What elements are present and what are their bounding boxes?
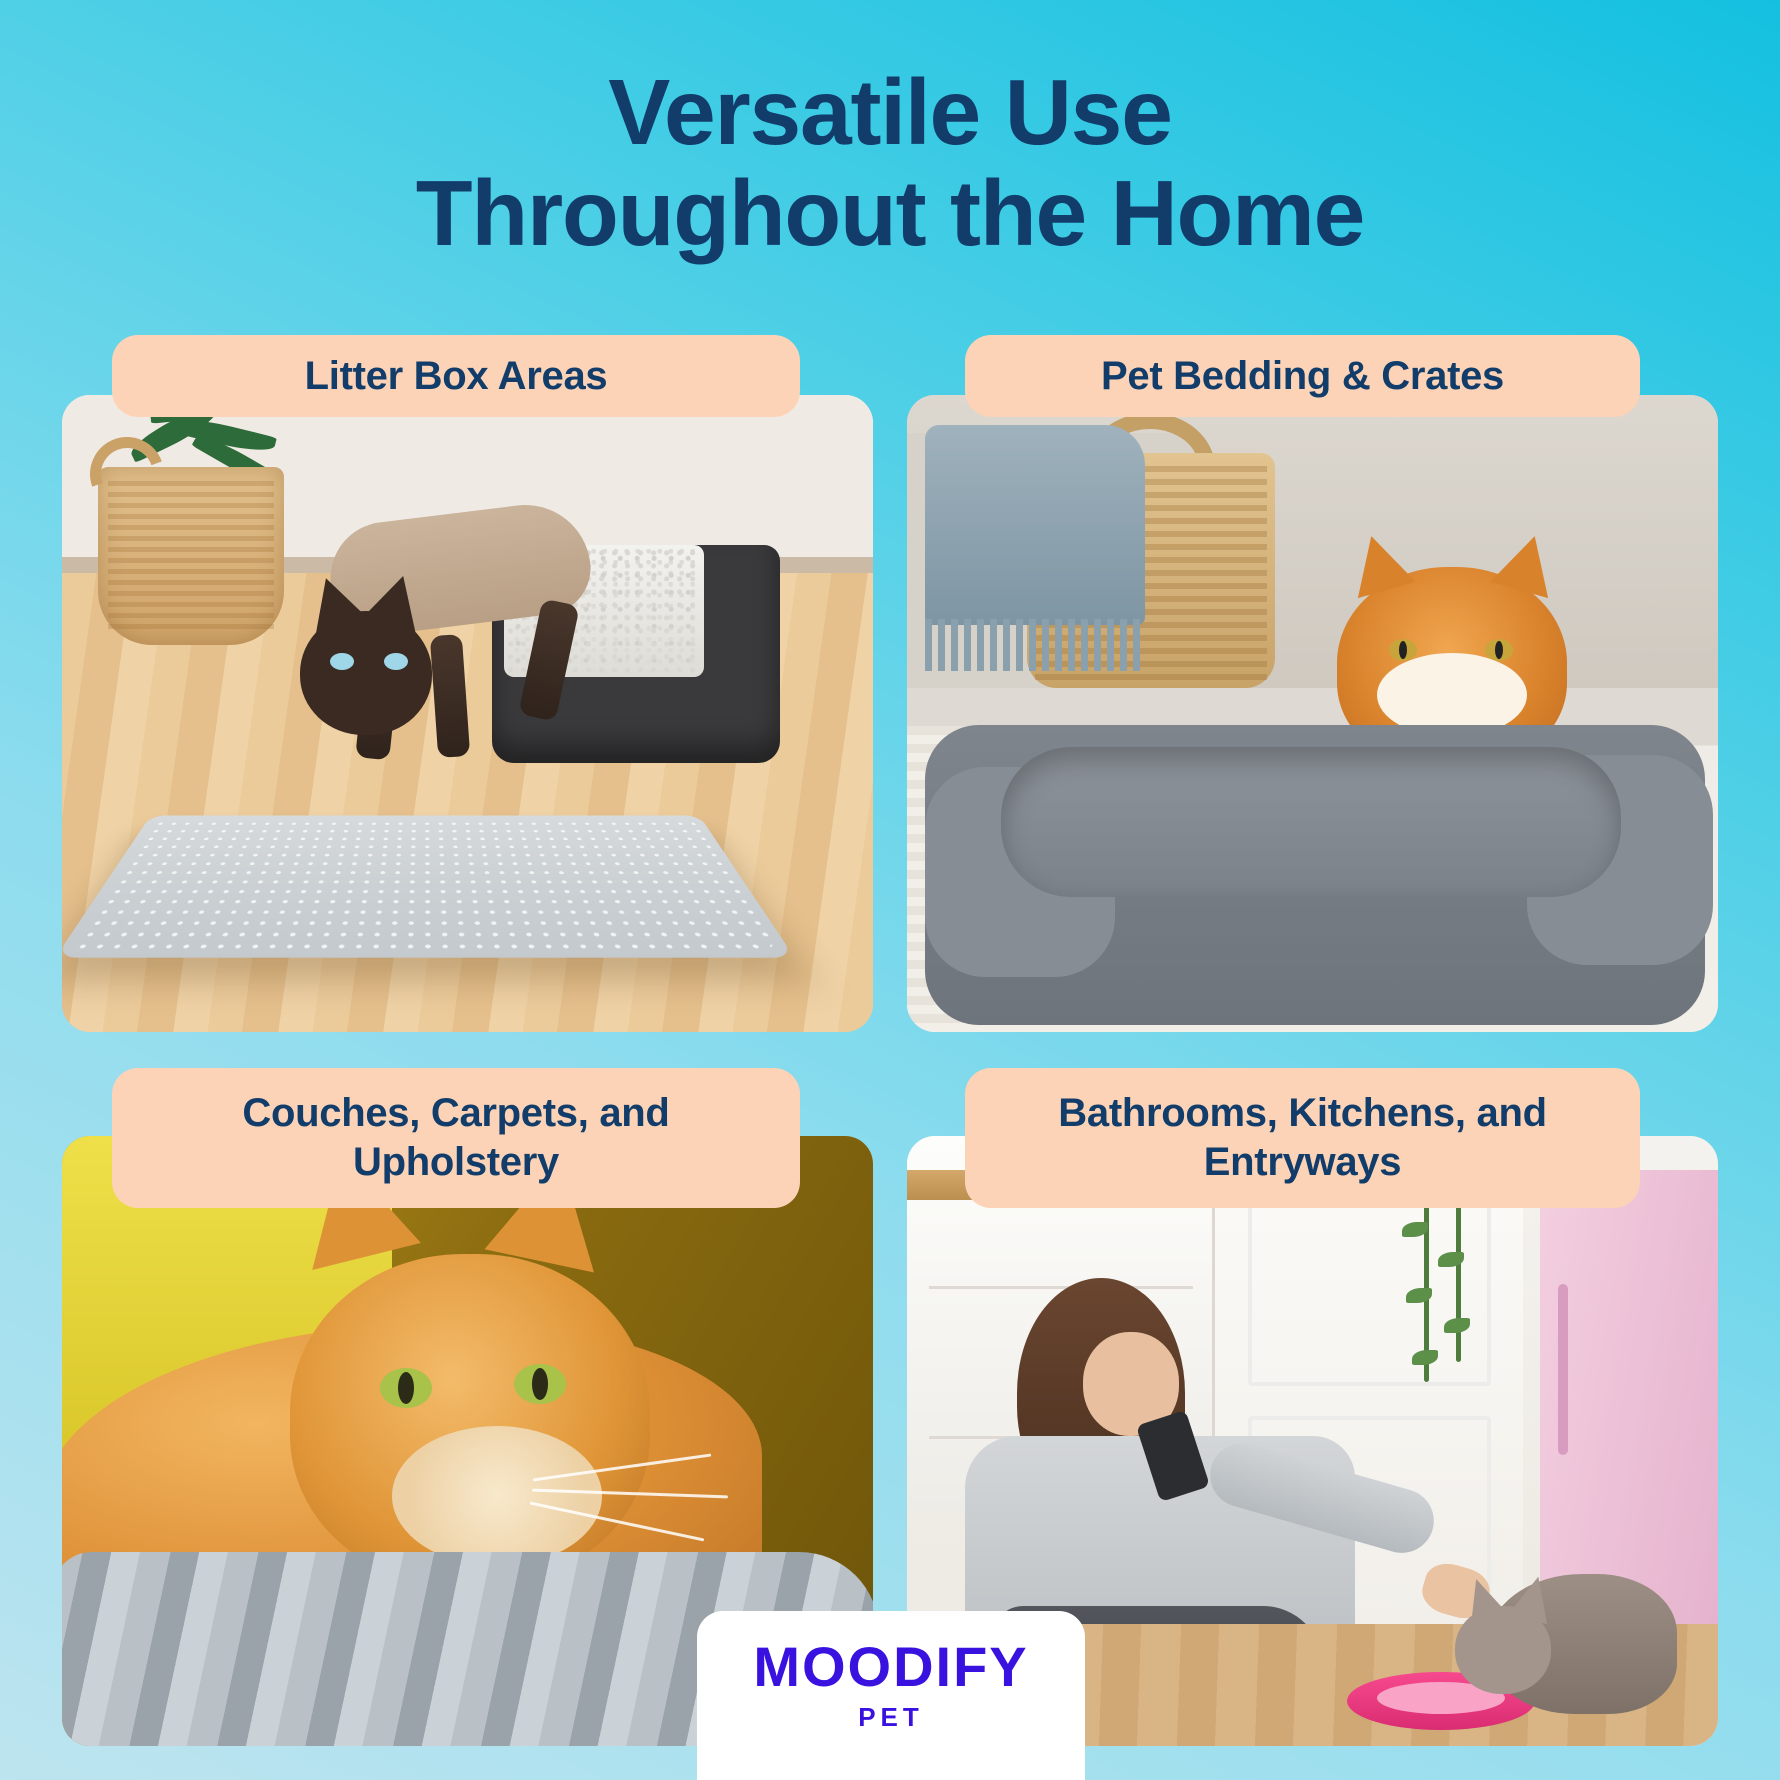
panel-label-line-2: Upholstery [353, 1140, 559, 1184]
page-title-line-2: Throughout the Home [0, 163, 1780, 264]
page-title: Versatile Use Throughout the Home [0, 62, 1780, 265]
cabinet-seam [929, 1286, 1193, 1289]
panel-label-text: Litter Box Areas [305, 352, 608, 401]
brand-subtitle: PET [858, 1704, 924, 1730]
panel-label-line-1: Couches, Carpets, and [242, 1091, 669, 1135]
panel-label-text: Couches, Carpets, and Upholstery [242, 1089, 669, 1187]
cat-muzzle [392, 1426, 602, 1566]
cat-eye [384, 653, 408, 670]
brand-wordmark: MOODIFY [753, 1639, 1028, 1695]
panel-label-line-1: Bathrooms, Kitchens, and [1058, 1091, 1546, 1135]
cat-eye [514, 1364, 566, 1404]
photo-litter-box-areas [62, 395, 873, 1032]
cat-eye [1485, 639, 1513, 661]
panel-litter-box-areas [62, 395, 873, 1032]
brand-logo: MOODIFY PET [697, 1611, 1085, 1780]
pet-bed-cushion [1001, 747, 1621, 897]
litter-mat [62, 815, 795, 957]
panel-label-text: Pet Bedding & Crates [1101, 352, 1504, 401]
photo-pet-bedding-and-crates [907, 395, 1718, 1032]
throw-blanket [925, 425, 1145, 625]
panel-label-litter-box-areas: Litter Box Areas [112, 335, 800, 417]
panel-pet-bedding-and-crates [907, 395, 1718, 1032]
panel-label-pet-bedding-and-crates: Pet Bedding & Crates [965, 335, 1640, 417]
panel-label-line-2: Entryways [1204, 1140, 1401, 1184]
cat-eye [1389, 639, 1417, 661]
page-title-line-1: Versatile Use [608, 60, 1171, 164]
cat-eye [330, 653, 354, 670]
sphynx-cat-head [1455, 1606, 1551, 1694]
panel-label-couches-carpets-upholstery: Couches, Carpets, and Upholstery [112, 1068, 800, 1208]
cat-head [300, 611, 432, 735]
panel-label-bathrooms-kitchens-entryways: Bathrooms, Kitchens, and Entryways [965, 1068, 1640, 1208]
panel-label-text: Bathrooms, Kitchens, and Entryways [1058, 1089, 1546, 1187]
hanging-plant-icon [1394, 1192, 1514, 1412]
cat-eye [380, 1368, 432, 1408]
